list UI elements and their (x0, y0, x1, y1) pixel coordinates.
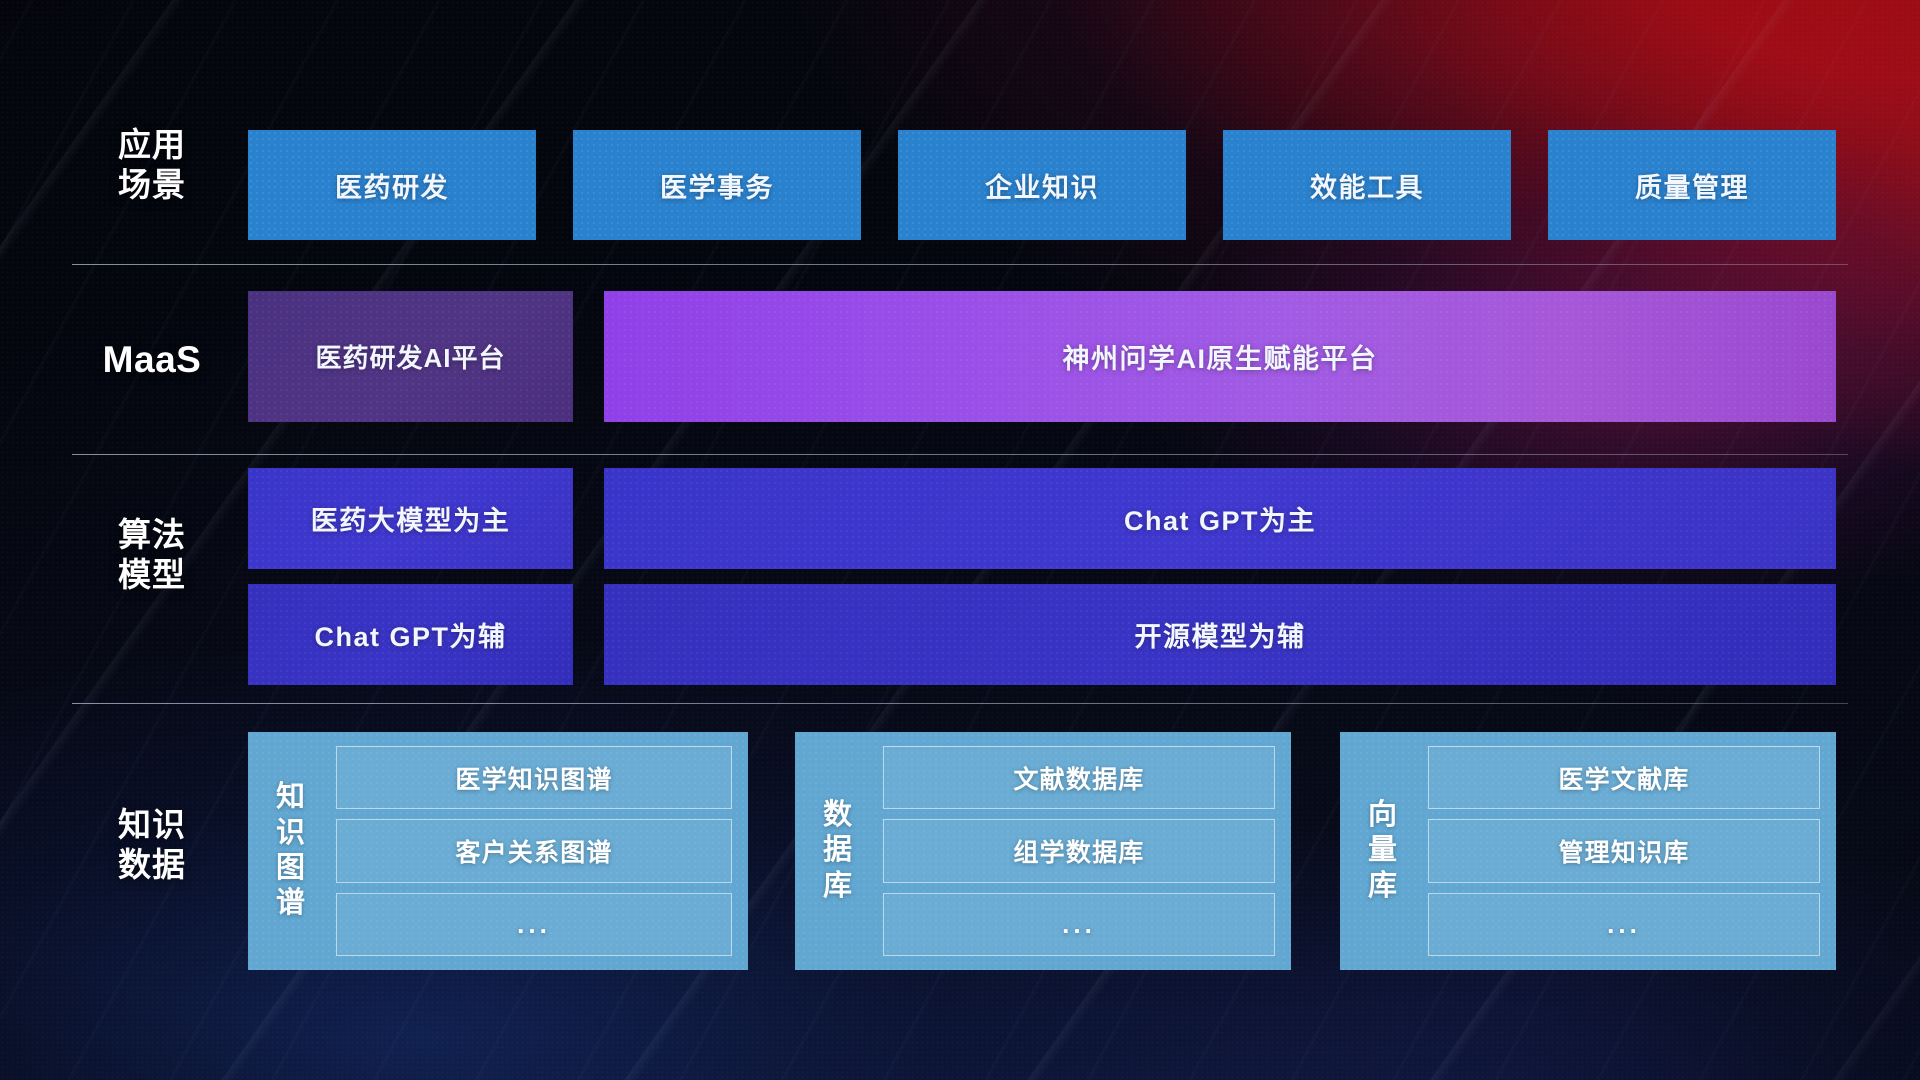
algo-card-0-left[interactable]: 医药大模型为主 (248, 468, 573, 569)
algo-card-0-right[interactable]: Chat GPT为主 (604, 468, 1836, 569)
knowledge-panel-database[interactable]: 数 据 库 文献数据库 组学数据库 ... (795, 732, 1291, 970)
knowledge-panel-knowledge-graph[interactable]: 知 识 图 谱 医学知识图谱 客户关系图谱 ... (248, 732, 748, 970)
knowledge-item-0-1[interactable]: 客户关系图谱 (336, 819, 732, 882)
maas-right-card[interactable]: 神州问学AI原生赋能平台 (604, 291, 1836, 422)
row-label-knowledge-data: 知识 数据 (72, 805, 232, 886)
row-label-maas: MaaS (72, 337, 232, 382)
divider-1 (72, 264, 1848, 265)
app-card-0[interactable]: 医药研发 (248, 130, 536, 240)
app-card-2[interactable]: 企业知识 (898, 130, 1186, 240)
knowledge-item-1-2[interactable]: ... (883, 893, 1275, 956)
knowledge-panel-items-2: 医学文献库 管理知识库 ... (1428, 746, 1820, 956)
knowledge-panel-title-2: 向 量 库 (1352, 746, 1414, 956)
app-card-4[interactable]: 质量管理 (1548, 130, 1836, 240)
row-label-algorithm-model: 算法 模型 (72, 515, 232, 596)
knowledge-panel-title-0: 知 识 图 谱 (260, 746, 322, 956)
row-label-application-scenarios: 应用 场景 (72, 125, 232, 206)
app-card-3[interactable]: 效能工具 (1223, 130, 1511, 240)
maas-left-card[interactable]: 医药研发AI平台 (248, 291, 573, 422)
knowledge-panel-title-1: 数 据 库 (807, 746, 869, 956)
algo-card-1-right[interactable]: 开源模型为辅 (604, 584, 1836, 685)
divider-3 (72, 703, 1848, 704)
knowledge-panel-items-0: 医学知识图谱 客户关系图谱 ... (336, 746, 732, 956)
app-card-1[interactable]: 医学事务 (573, 130, 861, 240)
knowledge-item-2-2[interactable]: ... (1428, 893, 1820, 956)
knowledge-item-1-1[interactable]: 组学数据库 (883, 819, 1275, 882)
knowledge-item-2-1[interactable]: 管理知识库 (1428, 819, 1820, 882)
knowledge-item-2-0[interactable]: 医学文献库 (1428, 746, 1820, 809)
knowledge-item-1-0[interactable]: 文献数据库 (883, 746, 1275, 809)
knowledge-panel-vector-store[interactable]: 向 量 库 医学文献库 管理知识库 ... (1340, 732, 1836, 970)
algo-card-1-left[interactable]: Chat GPT为辅 (248, 584, 573, 685)
slide-canvas: 应用 场景 医药研发 医学事务 企业知识 效能工具 质量管理 MaaS 医药研发… (0, 0, 1920, 1080)
divider-2 (72, 454, 1848, 455)
knowledge-item-0-2[interactable]: ... (336, 893, 732, 956)
knowledge-panel-items-1: 文献数据库 组学数据库 ... (883, 746, 1275, 956)
knowledge-item-0-0[interactable]: 医学知识图谱 (336, 746, 732, 809)
